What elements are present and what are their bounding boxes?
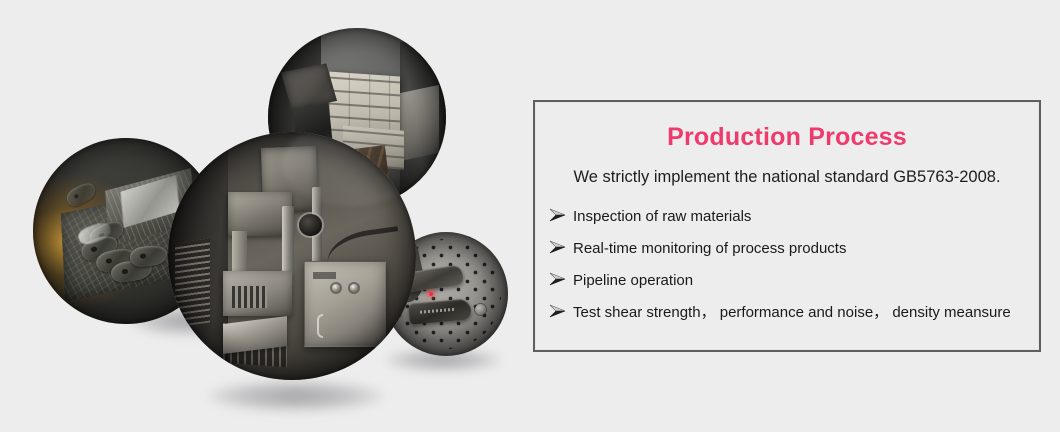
production-process-panel: Production Process We strictly implement… <box>533 100 1041 352</box>
list-item: Real-time monitoring of process products <box>549 239 1039 271</box>
panel-subtitle: We strictly implement the national stand… <box>535 152 1039 187</box>
photo-collage <box>0 0 520 432</box>
chevron-arrow-bullet-icon <box>549 304 566 318</box>
drop-shadow-center <box>208 380 383 412</box>
press-machine-photo <box>168 132 416 380</box>
list-item: Pipeline operation <box>549 271 1039 303</box>
chevron-arrow-bullet-icon <box>549 240 566 254</box>
list-item: Inspection of raw materials <box>549 207 1039 239</box>
chevron-arrow-bullet-icon <box>549 272 566 286</box>
list-item-label: Inspection of raw materials <box>573 209 751 224</box>
process-steps-list: Inspection of raw materials Real-time mo… <box>535 187 1039 320</box>
chevron-arrow-bullet-icon <box>549 208 566 222</box>
list-item-label: Test shear strength， performance and noi… <box>573 305 1011 320</box>
production-process-banner: Production Process We strictly implement… <box>0 0 1060 432</box>
list-item-label: Real-time monitoring of process products <box>573 241 846 256</box>
page-title: Production Process <box>535 102 1039 152</box>
laser-point-indicator <box>429 292 433 296</box>
list-item-label: Pipeline operation <box>573 273 693 288</box>
list-item: Test shear strength， performance and noi… <box>549 303 1039 320</box>
